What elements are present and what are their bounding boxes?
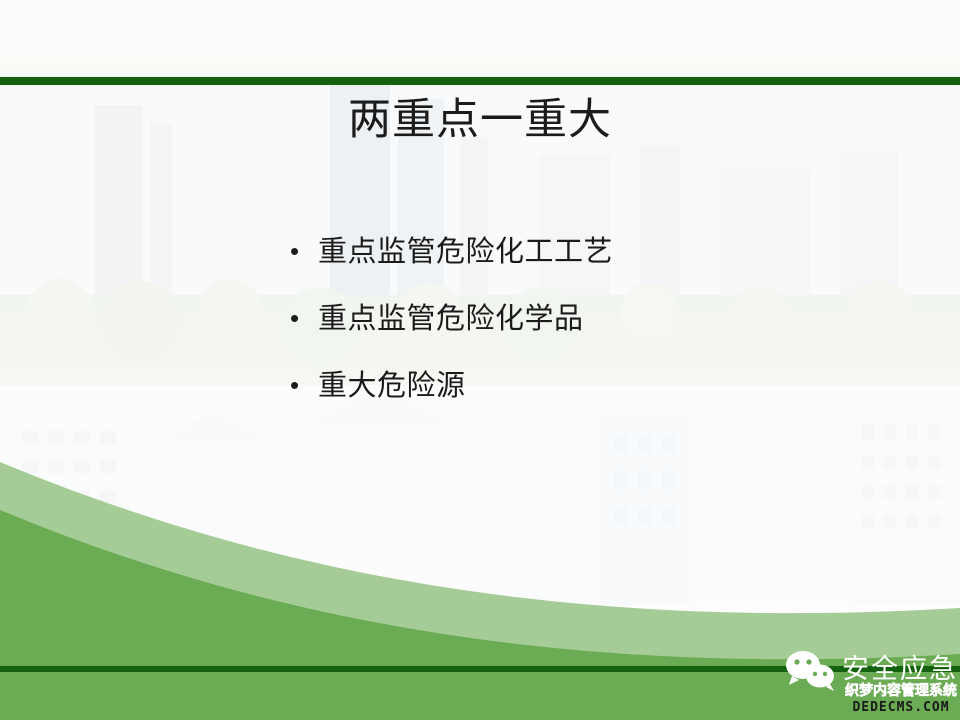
presentation-slide: 两重点一重大 • 重点监管危险化工工艺 • 重点监管危险化学品 • 重大危险源 bbox=[0, 0, 960, 720]
list-item-label: 重大危险源 bbox=[318, 366, 466, 404]
list-item: • 重点监管危险化学品 bbox=[286, 299, 846, 337]
bullet-list: • 重点监管危险化工工艺 • 重点监管危险化学品 • 重大危险源 bbox=[286, 232, 846, 433]
watermark-url-text: DEDECMS.COM bbox=[845, 701, 957, 714]
list-item-label: 重点监管危险化学品 bbox=[318, 299, 584, 337]
header-band bbox=[0, 0, 960, 77]
header-green-rule bbox=[0, 77, 960, 85]
bullet-point-icon: • bbox=[286, 366, 318, 404]
bullet-point-icon: • bbox=[286, 232, 318, 270]
list-item: • 重大危险源 bbox=[286, 366, 846, 404]
bullet-point-icon: • bbox=[286, 299, 318, 337]
list-item: • 重点监管危险化工工艺 bbox=[286, 232, 846, 270]
wechat-icon bbox=[782, 648, 838, 692]
page-title: 两重点一重大 bbox=[0, 96, 960, 145]
watermark-chinese-text: 织梦内容管理系统 bbox=[845, 684, 957, 698]
list-item-label: 重点监管危险化工工艺 bbox=[318, 232, 613, 270]
dedecms-watermark: 织梦内容管理系统 DEDECMS.COM bbox=[845, 684, 957, 714]
